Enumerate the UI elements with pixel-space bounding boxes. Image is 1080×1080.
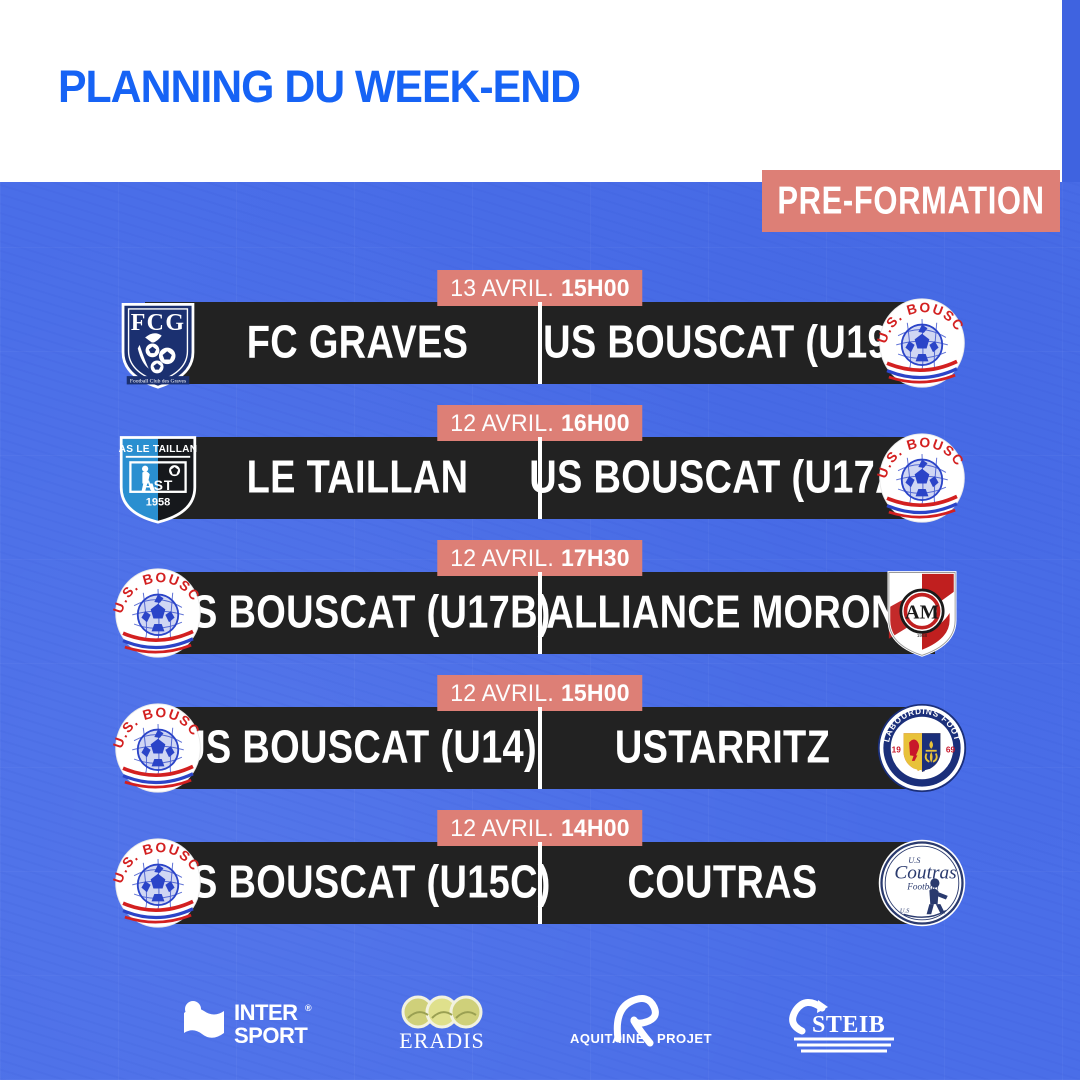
away-team-name: COUTRAS [550, 833, 895, 933]
home-team-name: LE TAILLAN [185, 428, 530, 528]
away-team-logo: LABOURDINS FOOT USTARITZ 19 69 [876, 702, 968, 794]
preformation-label: PRE-FORMATION [777, 179, 1044, 224]
home-team-name: FC GRAVES [185, 293, 530, 393]
match-divider [538, 437, 542, 519]
svg-text:69: 69 [946, 746, 956, 755]
sponsor-strip: INTER ® SPORT ERADIS AQUITAINE PROJET [0, 984, 1080, 1062]
svg-text:AM: AM [905, 602, 939, 624]
svg-text:INTER: INTER [234, 1000, 298, 1025]
match-divider [538, 572, 542, 654]
svg-text:U.S: U.S [900, 907, 910, 914]
home-team-logo: FCG Football Club des Graves [112, 297, 204, 389]
home-team-logo: U.S. BOUSCAT [112, 567, 204, 659]
away-team-logo: U.S. BOUSCAT [876, 432, 968, 524]
svg-text:AQUITAINE: AQUITAINE [570, 1031, 645, 1046]
svg-text:AST: AST [143, 478, 173, 493]
preformation-badge: PRE-FORMATION [762, 170, 1060, 232]
away-team-name: ALLIANCE MORON [550, 563, 895, 663]
sponsor-eradis: ERADIS [394, 991, 490, 1055]
sponsor-steib: STEIB [788, 991, 900, 1055]
svg-text:Football Club des Graves: Football Club des Graves [130, 379, 186, 385]
away-team-logo: U.S. BOUSCAT [876, 297, 968, 389]
home-team-logo: U.S. BOUSCAT [112, 702, 204, 794]
match-row: 13 AVRIL.15H00FC GRAVESUS BOUSCAT (U19) … [0, 270, 1080, 405]
match-divider [538, 302, 542, 384]
away-team-name: USTARRITZ [550, 698, 895, 798]
svg-text:STEIB: STEIB [812, 1012, 885, 1038]
match-row: 12 AVRIL.15H00US BOUSCAT (U14)USTARRITZ … [0, 675, 1080, 810]
home-team-name: US BOUSCAT (U14) [185, 698, 530, 798]
away-team-logo: U.S Coutras Football U.S [876, 837, 968, 929]
page-title: PLANNING DU WEEK-END [58, 0, 1043, 186]
svg-text:Coutras: Coutras [894, 862, 956, 883]
match-divider [538, 707, 542, 789]
header-right-accent-strip [1062, 0, 1080, 182]
sponsor-intersport: INTER ® SPORT [180, 991, 320, 1055]
match-divider [538, 842, 542, 924]
svg-text:PROJET: PROJET [657, 1031, 712, 1046]
home-team-logo: U.S. BOUSCAT [112, 837, 204, 929]
svg-text:FCG: FCG [131, 310, 186, 336]
svg-text:1958: 1958 [917, 633, 928, 638]
svg-text:1958: 1958 [146, 497, 171, 509]
home-team-logo: AS LE TAILLAN AST 1958 [112, 432, 204, 524]
svg-text:SPORT: SPORT [234, 1023, 308, 1048]
svg-text:AS LE TAILLAN: AS LE TAILLAN [119, 444, 198, 455]
match-row: 12 AVRIL.16H00LE TAILLANUS BOUSCAT (U17A… [0, 405, 1080, 540]
away-team-name: US BOUSCAT (U17A) [550, 428, 895, 528]
match-row: 12 AVRIL.14H00US BOUSCAT (U15C)COUTRAS U… [0, 810, 1080, 945]
sponsor-aquitaine-projet: AQUITAINE PROJET [564, 991, 714, 1055]
away-team-name: US BOUSCAT (U19) [550, 293, 895, 393]
home-team-name: US BOUSCAT (U17B) [185, 563, 530, 663]
away-team-logo: AM 1958 [876, 567, 968, 659]
match-row: 12 AVRIL.17H30US BOUSCAT (U17B)ALLIANCE … [0, 540, 1080, 675]
header-band: PLANNING DU WEEK-END [0, 0, 1080, 182]
match-list: 13 AVRIL.15H00FC GRAVESUS BOUSCAT (U19) … [0, 270, 1080, 945]
svg-text:®: ® [305, 1003, 312, 1013]
svg-text:19: 19 [892, 746, 902, 755]
home-team-name: US BOUSCAT (U15C) [185, 833, 530, 933]
svg-text:ERADIS: ERADIS [399, 1028, 484, 1053]
